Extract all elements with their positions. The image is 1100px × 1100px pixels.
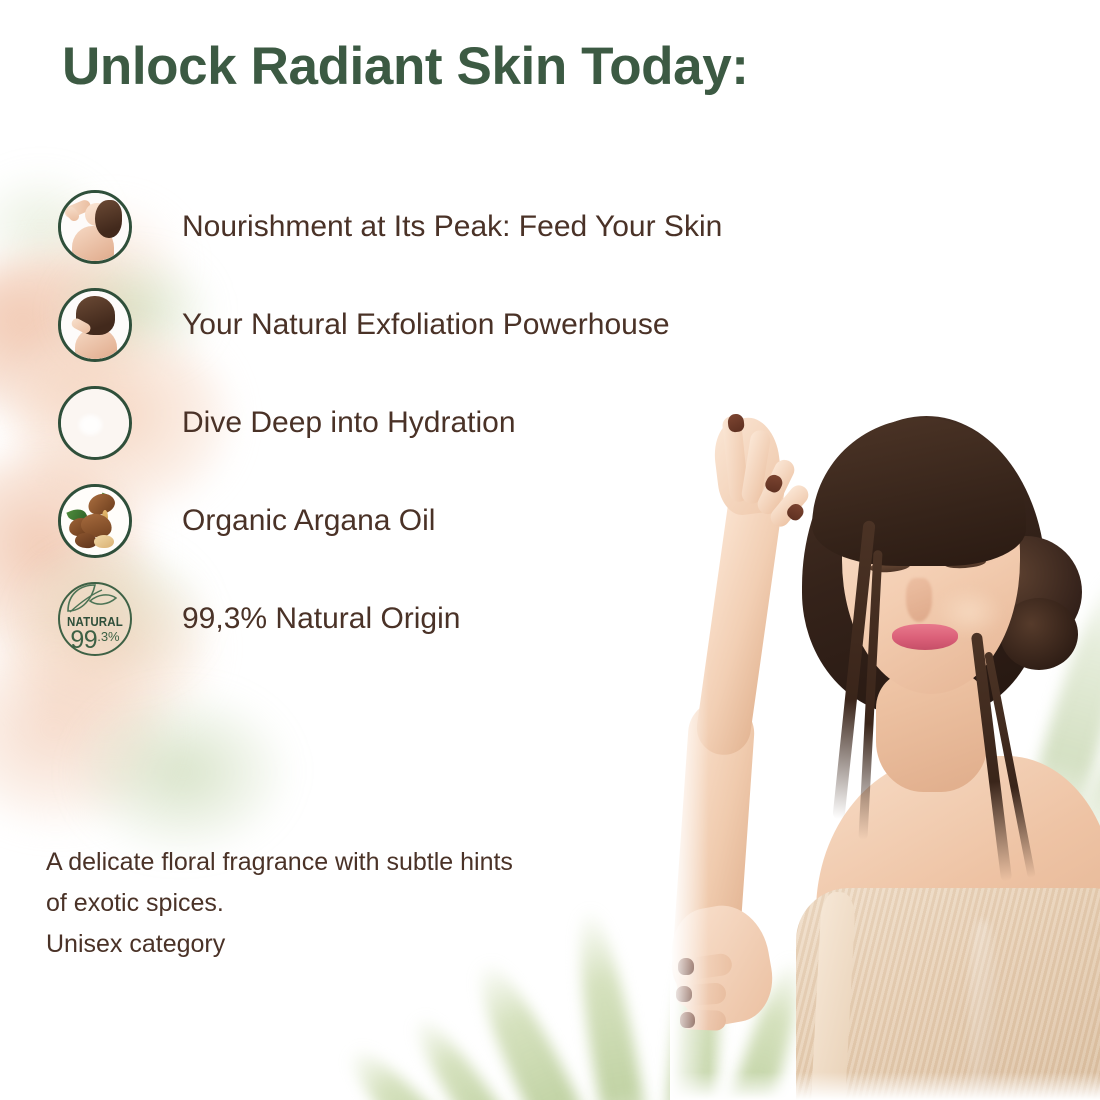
palm-frond-icon bbox=[337, 1037, 489, 1100]
fragrance-line-3: Unisex category bbox=[46, 924, 646, 965]
model-nail bbox=[678, 958, 694, 975]
leaf-icon bbox=[62, 581, 120, 617]
thumbnail-photo bbox=[61, 487, 129, 555]
badge-number: 99.3% bbox=[60, 628, 130, 653]
benefit-label: Dive Deep into Hydration bbox=[182, 405, 516, 441]
leaf-watercolor-blob bbox=[75, 690, 290, 855]
benefit-label: Nourishment at Its Peak: Feed Your Skin bbox=[182, 209, 722, 245]
benefit-label: 99,3% Natural Origin bbox=[182, 601, 460, 637]
fragrance-description: A delicate floral fragrance with subtle … bbox=[46, 842, 646, 965]
woman-arm-raised-photo-icon bbox=[58, 190, 132, 264]
benefit-item-nourishment: Nourishment at Its Peak: Feed Your Skin bbox=[58, 178, 858, 276]
model-towel-fold bbox=[970, 920, 996, 1100]
model-nail bbox=[676, 986, 692, 1002]
palm-frond-icon bbox=[402, 1008, 543, 1100]
model-lips bbox=[892, 624, 958, 650]
badge-number-whole: 99 bbox=[70, 626, 97, 654]
benefit-item-hydration: Dive Deep into Hydration bbox=[58, 374, 858, 472]
model-nail bbox=[680, 1012, 695, 1028]
benefit-item-natural-origin: NATURAL 99.3% 99,3% Natural Origin bbox=[58, 570, 858, 668]
fragrance-line-1: A delicate floral fragrance with subtle … bbox=[46, 842, 646, 883]
woman-touching-hair-photo-icon bbox=[58, 288, 132, 362]
benefit-item-argan-oil: Organic Argana Oil bbox=[58, 472, 858, 570]
palm-frond-icon bbox=[462, 952, 608, 1100]
argan-nuts-photo-icon bbox=[58, 484, 132, 558]
thumbnail-photo bbox=[61, 193, 129, 261]
benefit-label: Your Natural Exfoliation Powerhouse bbox=[182, 307, 670, 343]
benefit-list: Nourishment at Its Peak: Feed Your Skin … bbox=[58, 178, 858, 668]
fragrance-line-2: of exotic spices. bbox=[46, 883, 646, 924]
thumbnail-photo bbox=[61, 389, 129, 457]
page-title: Unlock Radiant Skin Today: bbox=[62, 36, 922, 98]
marketing-banner: Unlock Radiant Skin Today: Nourishment a… bbox=[0, 0, 1100, 1100]
natural-percentage-badge-icon: NATURAL 99.3% bbox=[58, 582, 132, 656]
thumbnail-photo bbox=[61, 291, 129, 359]
badge-number-decimal: .3% bbox=[97, 629, 119, 644]
benefit-label: Organic Argana Oil bbox=[182, 503, 435, 539]
model-nose bbox=[906, 578, 932, 622]
benefit-item-exfoliation: Your Natural Exfoliation Powerhouse bbox=[58, 276, 858, 374]
woman-applying-cream-photo-icon bbox=[58, 386, 132, 460]
